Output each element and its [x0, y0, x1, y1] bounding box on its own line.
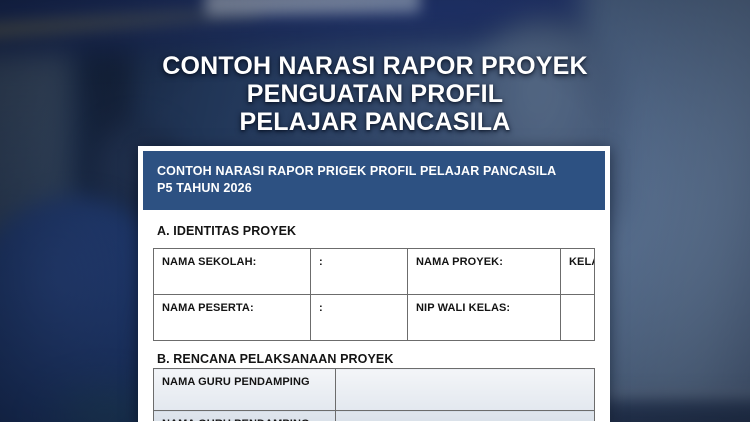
headline-line-3: PELAJAR PANCASILA [0, 108, 750, 136]
section-a-title: A. IDENTITAS PROYEK [157, 224, 595, 238]
cell-nama-proyek-label: NAMA PROYEK: [408, 249, 561, 295]
headline-line-1: CONTOH NARASI RAPOR PROYEK [0, 52, 750, 80]
slide-headline: CONTOH NARASI RAPOR PROYEK PENGUATAN PRO… [0, 52, 750, 136]
table-row: NAMA SEKOLAH: : NAMA PROYEK: KELAS: [154, 249, 595, 295]
document-header-line-1: CONTOH NARASI RAPOR PRIGEK PROFIL PELAJA… [157, 163, 591, 180]
table-row: NAMA GURU PENDAMPING [154, 369, 595, 411]
cell-nip-wali-kelas-label: NIP WALI KELAS: [408, 295, 561, 341]
cell-nip-wali-kelas-value [561, 295, 595, 341]
rencana-pelaksanaan-table: NAMA GURU PENDAMPING NAMA GURU PENDAMPIN… [153, 368, 595, 421]
headline-line-2: PENGUATAN PROFIL [0, 80, 750, 108]
document-card: CONTOH NARASI RAPOR PRIGEK PROFIL PELAJA… [138, 146, 610, 422]
document-header-line-2: P5 TAHUN 2026 [157, 180, 591, 197]
cell-nama-sekolah-label: NAMA SEKOLAH: [154, 249, 311, 295]
cell-guru-pendamping-value-2 [336, 411, 595, 422]
section-b-title: B. RENCANA PELAKSANAAN PROYEK [157, 352, 595, 366]
identitas-proyek-table: NAMA SEKOLAH: : NAMA PROYEK: KELAS: NAMA… [153, 248, 595, 341]
table-row: NAMA GURU PENDAMPING [154, 411, 595, 422]
document-page: CONTOH NARASI RAPOR PRIGEK PROFIL PELAJA… [143, 151, 605, 421]
document-body: A. IDENTITAS PROYEK NAMA SEKOLAH: : NAMA… [143, 224, 605, 421]
cell-nama-sekolah-value: : [311, 249, 408, 295]
cell-guru-pendamping-value-1 [336, 369, 595, 411]
cell-guru-pendamping-label-2: NAMA GURU PENDAMPING [154, 411, 336, 422]
cell-kelas-label: KELAS: [561, 249, 595, 295]
cell-nama-peserta-label: NAMA PESERTA: [154, 295, 311, 341]
cell-guru-pendamping-label-1: NAMA GURU PENDAMPING [154, 369, 336, 411]
cell-nama-peserta-value: : [311, 295, 408, 341]
slide-canvas: CONTOH NARASI RAPOR PROYEK PENGUATAN PRO… [0, 0, 750, 422]
document-header-banner: CONTOH NARASI RAPOR PRIGEK PROFIL PELAJA… [143, 151, 605, 210]
table-row: NAMA PESERTA: : NIP WALI KELAS: [154, 295, 595, 341]
